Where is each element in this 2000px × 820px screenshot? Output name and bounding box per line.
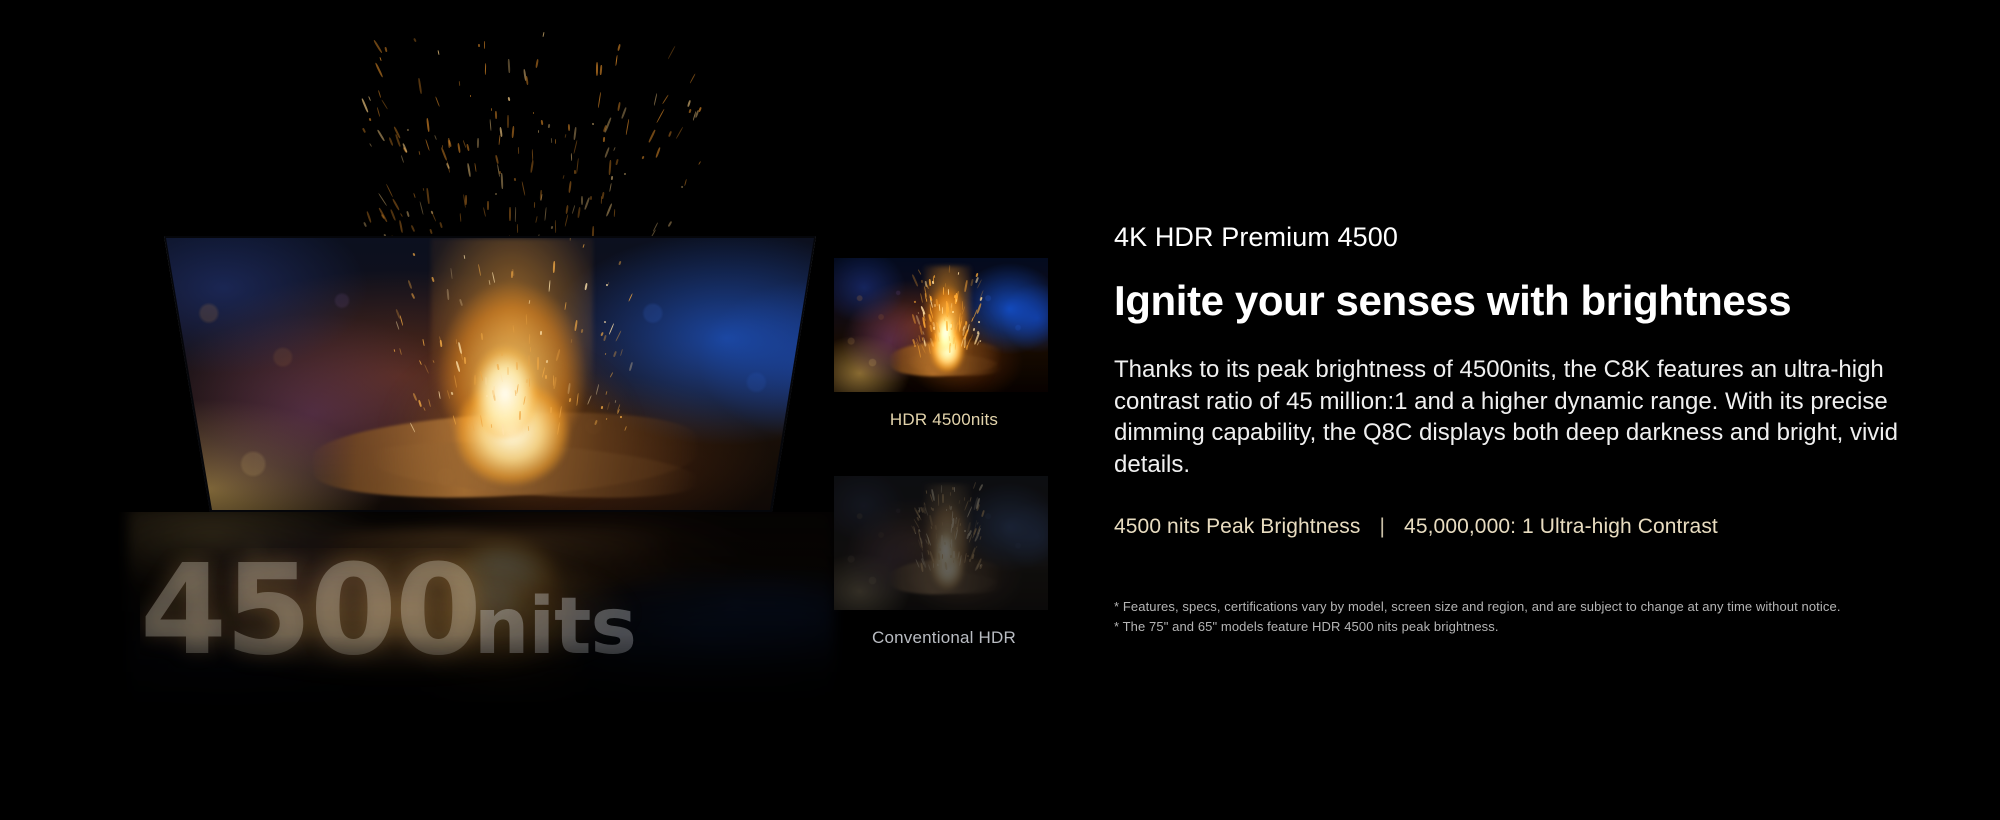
spec-contrast: 45,000,000: 1 Ultra-high Contrast: [1404, 515, 1718, 539]
product-eyebrow: 4K HDR Premium 4500: [1114, 222, 1914, 253]
tv-display: [160, 236, 820, 516]
comparison-item-conventional: Conventional HDR: [834, 476, 1054, 648]
spec-summary: 4500 nits Peak Brightness | 45,000,000: …: [1114, 515, 1914, 539]
watermark-number: 4500: [140, 548, 480, 673]
brightness-watermark: 4500 nits: [140, 548, 920, 688]
page-background: 4500 nits HDR 4500nits: [0, 0, 2000, 820]
tv-screen-content: [160, 236, 820, 516]
comparison-label-bright: HDR 4500nits: [834, 410, 1054, 430]
campfire-scene: [160, 236, 820, 516]
comparison-label-dim: Conventional HDR: [834, 628, 1054, 648]
footnotes: * Features, specs, certifications vary b…: [1114, 597, 1914, 637]
page-title: Ignite your senses with brightness: [1114, 277, 1914, 325]
spec-separator: |: [1379, 515, 1385, 539]
watermark-unit: nits: [474, 588, 636, 666]
copy-block: 4K HDR Premium 4500 Ignite your senses w…: [1114, 222, 1914, 637]
footnote-2: * The 75" and 65" models feature HDR 450…: [1114, 617, 1914, 637]
sparks-overlay: [360, 30, 700, 250]
comparison-item-hdr4500: HDR 4500nits: [834, 258, 1054, 430]
spec-peak-brightness: 4500 nits Peak Brightness: [1114, 515, 1360, 539]
body-paragraph: Thanks to its peak brightness of 4500nit…: [1114, 354, 1914, 481]
comparison-thumbnail-dim: [834, 476, 1048, 610]
footnote-1: * Features, specs, certifications vary b…: [1114, 597, 1914, 617]
comparison-column: HDR 4500nits Conventional HDR: [834, 258, 1054, 648]
comparison-thumbnail-bright: [834, 258, 1048, 392]
